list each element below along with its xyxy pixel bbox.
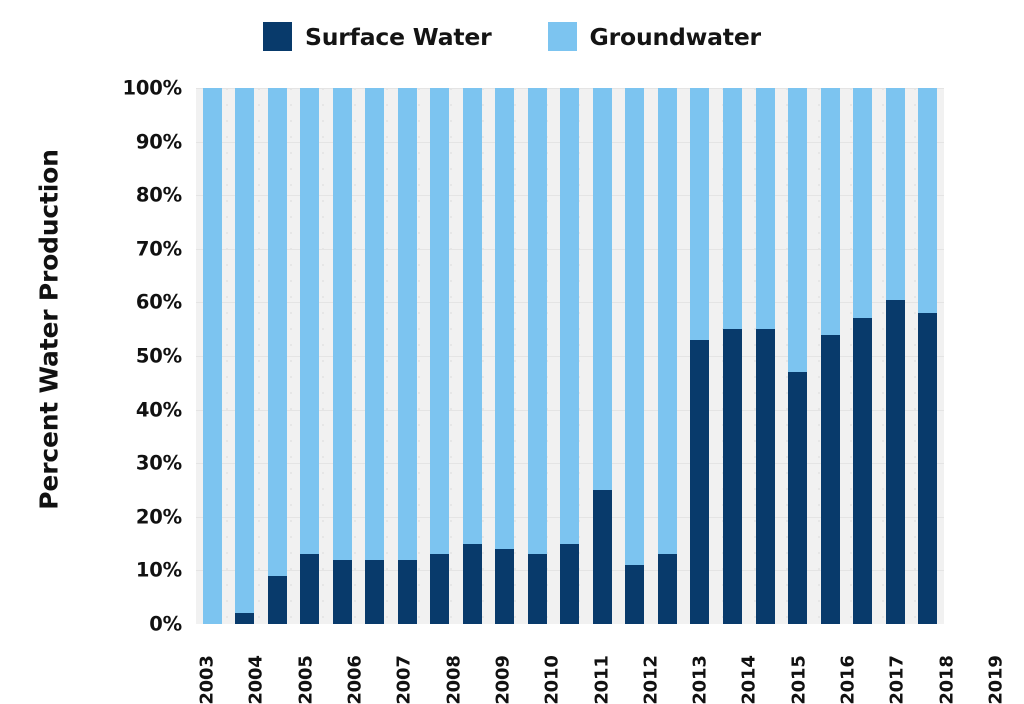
- bar-group[interactable]: [586, 88, 619, 624]
- bar-stack[interactable]: [203, 88, 222, 624]
- x-axis-tick-slot: 2016: [837, 630, 886, 704]
- bar-segment-surface-water[interactable]: [821, 335, 840, 624]
- bar-stack[interactable]: [756, 88, 775, 624]
- bar-group[interactable]: [749, 88, 782, 624]
- bar-stack[interactable]: [886, 88, 905, 624]
- bar-group[interactable]: [619, 88, 652, 624]
- legend-item-groundwater[interactable]: Groundwater: [548, 22, 761, 51]
- x-axis-tick-slot: 2010: [541, 630, 590, 704]
- y-axis-tick-label: 90%: [136, 130, 182, 153]
- x-axis-tick-labels: 2003200420052006200720082009201020112012…: [196, 630, 944, 704]
- bar-segment-surface-water[interactable]: [463, 544, 482, 624]
- bar-segment-groundwater[interactable]: [560, 88, 579, 544]
- bar-group[interactable]: [716, 88, 749, 624]
- bar-group[interactable]: [326, 88, 359, 624]
- bar-stack[interactable]: [853, 88, 872, 624]
- bar-stack[interactable]: [821, 88, 840, 624]
- bar-segment-surface-water[interactable]: [365, 560, 384, 624]
- x-axis-tick-slot: 2005: [295, 630, 344, 704]
- x-axis-tick-slot: 2004: [245, 630, 294, 704]
- bar-group[interactable]: [456, 88, 489, 624]
- x-axis-tick-label: 2011: [591, 655, 639, 704]
- x-axis-tick-label: 2015: [788, 655, 836, 704]
- bar-stack[interactable]: [365, 88, 384, 624]
- bar-segment-surface-water[interactable]: [528, 554, 547, 624]
- bar-segment-surface-water[interactable]: [268, 576, 287, 624]
- bar-group[interactable]: [196, 88, 229, 624]
- bar-segment-surface-water[interactable]: [333, 560, 352, 624]
- bar-segment-groundwater[interactable]: [268, 88, 287, 576]
- bar-segment-groundwater[interactable]: [723, 88, 742, 329]
- bar-group[interactable]: [879, 88, 912, 624]
- bar-segment-groundwater[interactable]: [625, 88, 644, 565]
- x-axis-tick-label: 2004: [246, 655, 294, 704]
- x-axis-tick-label: 2005: [295, 655, 343, 704]
- bar-stack[interactable]: [593, 88, 612, 624]
- bar-group[interactable]: [294, 88, 327, 624]
- bar-stack[interactable]: [528, 88, 547, 624]
- bar-stack[interactable]: [268, 88, 287, 624]
- y-axis-tick-label: 40%: [136, 398, 182, 421]
- bar-stack[interactable]: [463, 88, 482, 624]
- bar-segment-surface-water[interactable]: [235, 613, 254, 624]
- y-axis-tick-label: 0%: [149, 613, 182, 636]
- bar-segment-surface-water[interactable]: [398, 560, 417, 624]
- x-axis-tick-slot: 2009: [492, 630, 541, 704]
- bar-stack[interactable]: [788, 88, 807, 624]
- stacked-bar-chart: Surface Water Groundwater Percent Water …: [0, 0, 1024, 704]
- bar-segment-surface-water[interactable]: [593, 490, 612, 624]
- plot-area: [196, 88, 944, 624]
- bar-group[interactable]: [846, 88, 879, 624]
- bar-segment-groundwater[interactable]: [528, 88, 547, 554]
- x-axis-tick-label: 2019: [986, 655, 1024, 704]
- chart-legend: Surface Water Groundwater: [0, 22, 1024, 51]
- bar-segment-groundwater[interactable]: [756, 88, 775, 329]
- bar-group[interactable]: [424, 88, 457, 624]
- bar-group[interactable]: [684, 88, 717, 624]
- x-axis-tick-label: 2009: [493, 655, 541, 704]
- x-axis-tick-slot: 2011: [591, 630, 640, 704]
- bar-stack[interactable]: [333, 88, 352, 624]
- x-axis-tick-slot: 2013: [689, 630, 738, 704]
- y-axis-tick-label: 70%: [136, 237, 182, 260]
- y-axis-tick-label: 50%: [136, 345, 182, 368]
- legend-label-groundwater: Groundwater: [590, 23, 761, 51]
- bar-stack[interactable]: [300, 88, 319, 624]
- x-axis-tick-label: 2007: [394, 655, 442, 704]
- y-axis-tick-label: 10%: [136, 559, 182, 582]
- bar-segment-groundwater[interactable]: [788, 88, 807, 372]
- bar-segment-groundwater[interactable]: [365, 88, 384, 560]
- bar-segment-groundwater[interactable]: [886, 88, 905, 300]
- bar-group[interactable]: [814, 88, 847, 624]
- x-axis-tick-slot: 2012: [640, 630, 689, 704]
- bar-segment-surface-water[interactable]: [560, 544, 579, 624]
- y-axis-tick-label: 100%: [123, 77, 182, 100]
- bar-group[interactable]: [391, 88, 424, 624]
- bar-segment-surface-water[interactable]: [658, 554, 677, 624]
- y-axis-title-label: Percent Water Production: [35, 149, 64, 509]
- bar-segment-groundwater[interactable]: [203, 88, 222, 624]
- x-axis-tick-slot: 2014: [738, 630, 787, 704]
- bar-group[interactable]: [521, 88, 554, 624]
- x-axis-tick-label: 2010: [542, 655, 590, 704]
- bar-segment-surface-water[interactable]: [788, 372, 807, 624]
- bar-series-container: [196, 88, 944, 624]
- x-axis-tick-slot: 2003: [196, 630, 245, 704]
- y-axis-tick-label: 80%: [136, 184, 182, 207]
- bar-stack[interactable]: [658, 88, 677, 624]
- x-axis-tick-slot: 2006: [344, 630, 393, 704]
- bar-segment-surface-water[interactable]: [756, 329, 775, 624]
- bar-segment-groundwater[interactable]: [430, 88, 449, 554]
- x-axis-tick-slot: 2007: [393, 630, 442, 704]
- bar-segment-groundwater[interactable]: [495, 88, 514, 549]
- y-axis-title: Percent Water Production: [0, 0, 110, 704]
- y-axis-tick-label: 20%: [136, 505, 182, 528]
- legend-swatch-groundwater-icon: [548, 22, 577, 51]
- bar-segment-groundwater[interactable]: [658, 88, 677, 554]
- x-axis-tick-label: 2006: [345, 655, 393, 704]
- bar-segment-surface-water[interactable]: [430, 554, 449, 624]
- bar-stack[interactable]: [723, 88, 742, 624]
- y-axis-tick-label: 60%: [136, 291, 182, 314]
- bar-segment-surface-water[interactable]: [690, 340, 709, 624]
- bar-segment-surface-water[interactable]: [625, 565, 644, 624]
- bar-segment-surface-water[interactable]: [918, 313, 937, 624]
- x-axis-tick-slot: 2008: [443, 630, 492, 704]
- bar-group[interactable]: [781, 88, 814, 624]
- legend-item-surface-water[interactable]: Surface Water: [263, 22, 491, 51]
- bar-group[interactable]: [554, 88, 587, 624]
- bar-group[interactable]: [651, 88, 684, 624]
- bar-stack[interactable]: [690, 88, 709, 624]
- bar-stack[interactable]: [398, 88, 417, 624]
- bar-group[interactable]: [229, 88, 262, 624]
- bar-group[interactable]: [489, 88, 522, 624]
- bar-group[interactable]: [911, 88, 944, 624]
- x-axis-tick-label: 2016: [838, 655, 886, 704]
- bar-stack[interactable]: [495, 88, 514, 624]
- bar-segment-surface-water[interactable]: [723, 329, 742, 624]
- y-axis-tick-labels: 0%10%20%30%40%50%60%70%80%90%100%: [100, 88, 182, 624]
- bar-segment-groundwater[interactable]: [300, 88, 319, 554]
- bar-segment-groundwater[interactable]: [690, 88, 709, 340]
- bar-segment-surface-water[interactable]: [886, 300, 905, 624]
- bar-segment-surface-water[interactable]: [300, 554, 319, 624]
- bar-segment-groundwater[interactable]: [853, 88, 872, 318]
- bar-stack[interactable]: [625, 88, 644, 624]
- x-axis-tick-label: 2003: [197, 655, 245, 704]
- bar-group[interactable]: [261, 88, 294, 624]
- bar-segment-surface-water[interactable]: [853, 318, 872, 624]
- x-axis-tick-label: 2014: [739, 655, 787, 704]
- legend-label-surface-water: Surface Water: [305, 23, 491, 51]
- bar-stack[interactable]: [430, 88, 449, 624]
- bar-group[interactable]: [359, 88, 392, 624]
- x-axis-tick-slot: 2015: [788, 630, 837, 704]
- bar-segment-groundwater[interactable]: [821, 88, 840, 335]
- x-axis-tick-slot: 2018: [936, 630, 985, 704]
- bar-stack[interactable]: [560, 88, 579, 624]
- x-axis-tick-label: 2018: [936, 655, 984, 704]
- x-axis-tick-label: 2012: [640, 655, 688, 704]
- x-axis-tick-label: 2008: [443, 655, 491, 704]
- bar-segment-groundwater[interactable]: [333, 88, 352, 560]
- x-axis-tick-label: 2013: [690, 655, 738, 704]
- x-axis-tick-slot: 2017: [886, 630, 935, 704]
- bar-segment-surface-water[interactable]: [495, 549, 514, 624]
- legend-swatch-surface-water-icon: [263, 22, 292, 51]
- bar-segment-groundwater[interactable]: [235, 88, 254, 613]
- y-axis-tick-label: 30%: [136, 452, 182, 475]
- bar-segment-groundwater[interactable]: [918, 88, 937, 313]
- bar-segment-groundwater[interactable]: [398, 88, 417, 560]
- bar-stack[interactable]: [918, 88, 937, 624]
- x-axis-tick-slot: 2019: [985, 630, 1024, 704]
- bar-segment-groundwater[interactable]: [593, 88, 612, 490]
- x-axis-tick-label: 2017: [887, 655, 935, 704]
- bar-stack[interactable]: [235, 88, 254, 624]
- bar-segment-groundwater[interactable]: [463, 88, 482, 544]
